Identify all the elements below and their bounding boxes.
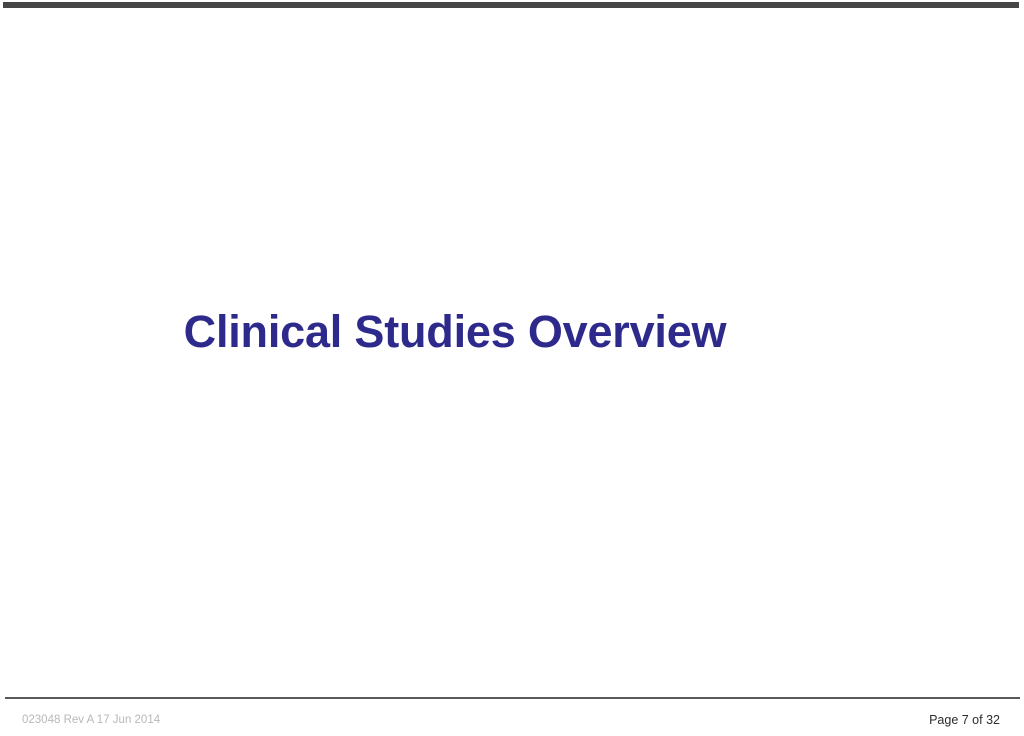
- slide-page: Clinical Studies Overview 023048 Rev A 1…: [0, 0, 1024, 736]
- footer: 023048 Rev A 17 Jun 2014 Page 7 of 32: [0, 699, 1024, 736]
- page-title: Clinical Studies Overview: [184, 307, 727, 357]
- slide-content-area: Clinical Studies Overview: [0, 8, 1024, 697]
- footer-document-id: 023048 Rev A 17 Jun 2014: [22, 714, 160, 726]
- footer-page-number: Page 7 of 32: [929, 713, 1000, 727]
